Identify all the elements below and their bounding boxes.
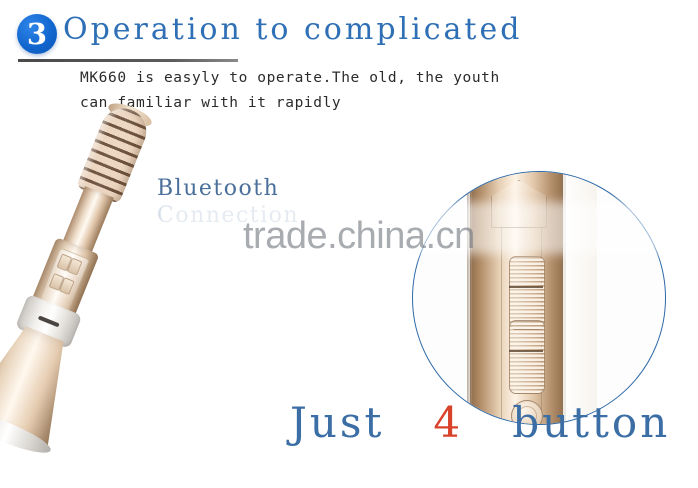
magnified-body-right-edge [563, 171, 597, 425]
tagline-number: 4 [433, 398, 463, 447]
section-header: 3 Operation to complicated [0, 0, 698, 66]
magnified-rocker-switch-lower [509, 320, 545, 394]
product-detail-banner: 3 Operation to complicated MK660 is easy… [0, 0, 698, 488]
step-number-badge: 3 [17, 14, 57, 54]
description-line-2: can familiar with it rapidly [80, 91, 680, 116]
feature-label-bluetooth: Bluetooth [157, 176, 279, 201]
page-title: Operation to complicated [63, 12, 522, 47]
description-text: MK660 is easyly to operate.The old, the … [80, 66, 680, 116]
magnified-groove-left [501, 227, 502, 423]
tagline-suffix: button [512, 398, 670, 447]
magnified-rocker-lower-divider [509, 350, 543, 352]
title-underline-divider [18, 59, 238, 62]
tagline: Just 4 button [290, 398, 670, 447]
magnified-rocker-switch-upper [509, 256, 545, 330]
magnified-body-left-edge [467, 171, 472, 425]
magnified-rocker-upper-divider [509, 286, 543, 288]
description-line-1: MK660 is easyly to operate.The old, the … [80, 66, 680, 91]
magnifier-circle-callout [412, 171, 666, 425]
tagline-prefix: Just [290, 398, 384, 447]
feature-label-bluetooth-sub: Connection [157, 203, 299, 228]
